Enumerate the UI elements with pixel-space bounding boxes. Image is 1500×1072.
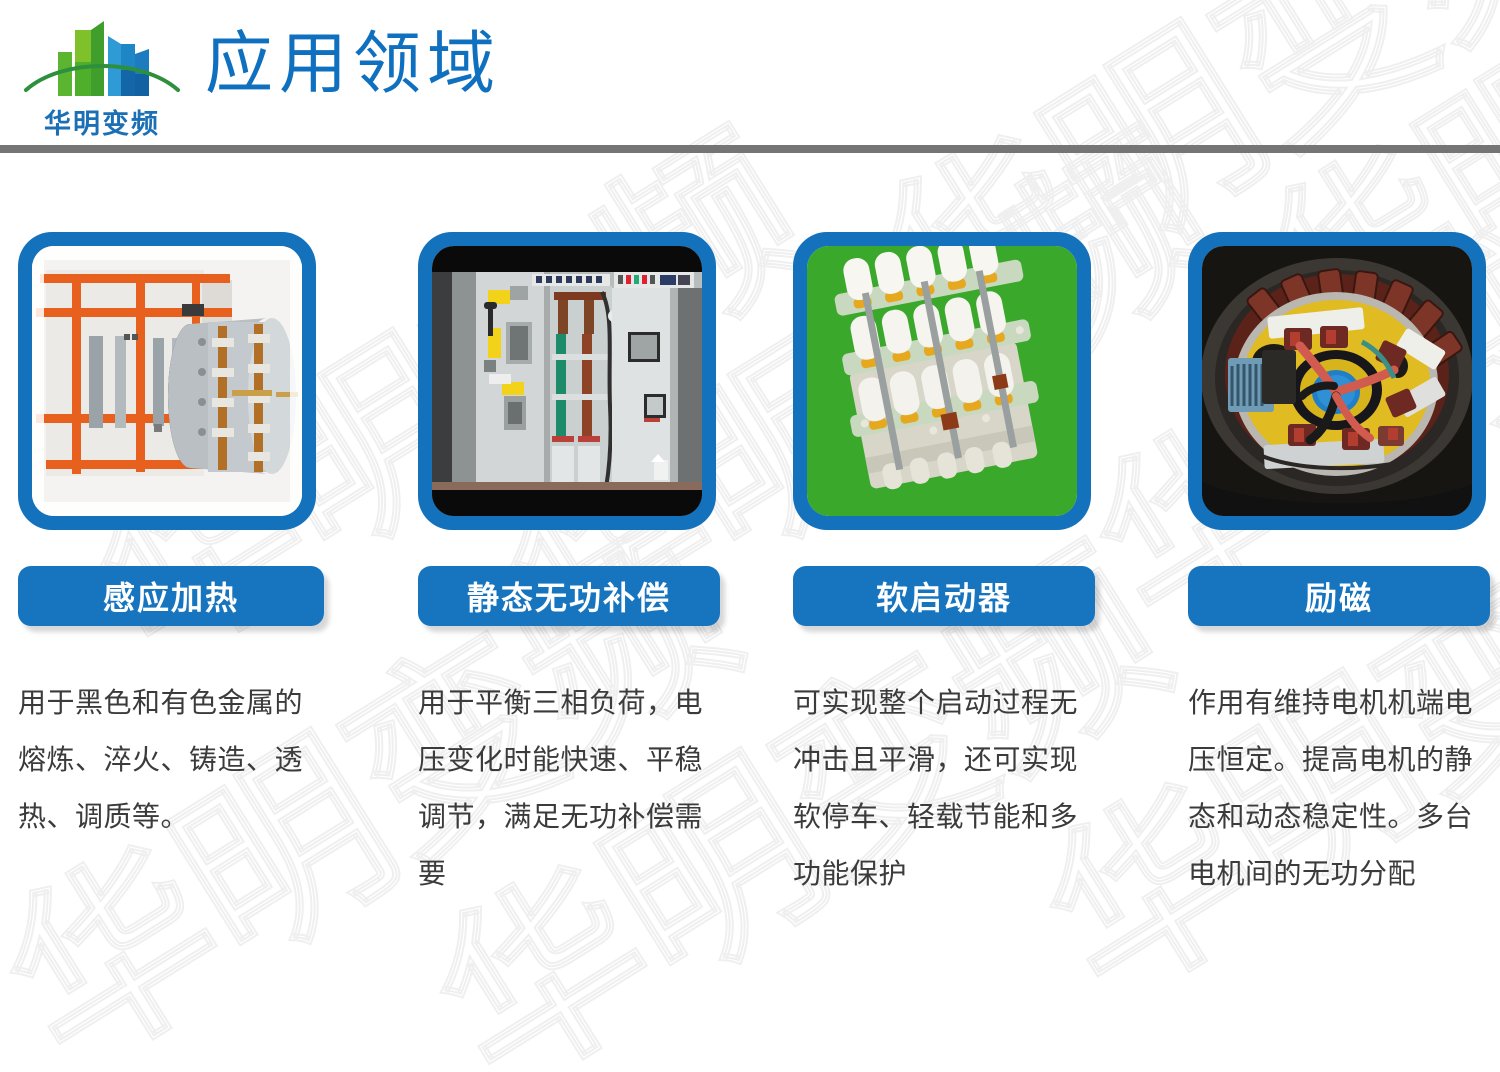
card-label[interactable]: 感应加热 bbox=[18, 566, 324, 626]
buildings-arc-logo-icon bbox=[22, 18, 182, 104]
card-label-wrap: 感应加热 bbox=[18, 566, 316, 628]
page-header: 华明变频 应用领域 bbox=[0, 0, 1500, 146]
card-label[interactable]: 软启动器 bbox=[793, 566, 1095, 626]
card-description: 可实现整个启动过程无冲击且平滑，还可实现软停车、轻载节能和多功能保护 bbox=[793, 674, 1093, 902]
card-label-wrap: 励磁 bbox=[1188, 566, 1486, 628]
card-description: 用于黑色和有色金属的熔炼、淬火、铸造、透热、调质等。 bbox=[18, 674, 310, 845]
card-description: 用于平衡三相负荷，电压变化时能快速、平稳调节，满足无功补偿需要 bbox=[418, 674, 710, 902]
card-label-wrap: 静态无功补偿 bbox=[418, 566, 716, 628]
header-divider bbox=[0, 145, 1500, 153]
slide-root: 华明变频 华明变频 华明变频 华明变频 华明变频 华明变频 华明变频 华明变频 bbox=[0, 0, 1500, 1072]
application-card[interactable]: 励磁 作用有维持电机机端电压恒定。提高电机的静态和动态稳定性。多台电机间的无功分… bbox=[1188, 232, 1486, 902]
card-label[interactable]: 励磁 bbox=[1188, 566, 1490, 626]
photo-frame bbox=[18, 232, 316, 530]
application-card[interactable]: 感应加热 用于黑色和有色金属的熔炼、淬火、铸造、透热、调质等。 bbox=[18, 232, 316, 845]
card-description: 作用有维持电机机端电压恒定。提高电机的静态和动态稳定性。多台电机间的无功分配 bbox=[1188, 674, 1488, 902]
card-label-wrap: 软启动器 bbox=[793, 566, 1091, 628]
page-title: 应用领域 bbox=[205, 28, 501, 103]
company-logo: 华明变频 bbox=[22, 18, 182, 140]
card-label[interactable]: 静态无功补偿 bbox=[418, 566, 720, 626]
soft-starter-thyristor-stack-photo bbox=[807, 246, 1077, 516]
application-card[interactable]: 静态无功补偿 用于平衡三相负荷，电压变化时能快速、平稳调节，满足无功补偿需要 bbox=[418, 232, 716, 902]
photo-frame bbox=[793, 232, 1091, 530]
excitation-rotor-assembly-photo bbox=[1202, 246, 1472, 516]
application-card[interactable]: 软启动器 可实现整个启动过程无冲击且平滑，还可实现软停车、轻载节能和多功能保护 bbox=[793, 232, 1091, 902]
company-name: 华明变频 bbox=[22, 102, 182, 141]
application-cards: 感应加热 用于黑色和有色金属的熔炼、淬火、铸造、透热、调质等。 bbox=[0, 232, 1500, 1042]
svc-switchgear-cabinet-photo bbox=[432, 246, 702, 516]
induction-heating-cabinet-photo bbox=[32, 246, 302, 516]
photo-frame bbox=[418, 232, 716, 530]
photo-frame bbox=[1188, 232, 1486, 530]
